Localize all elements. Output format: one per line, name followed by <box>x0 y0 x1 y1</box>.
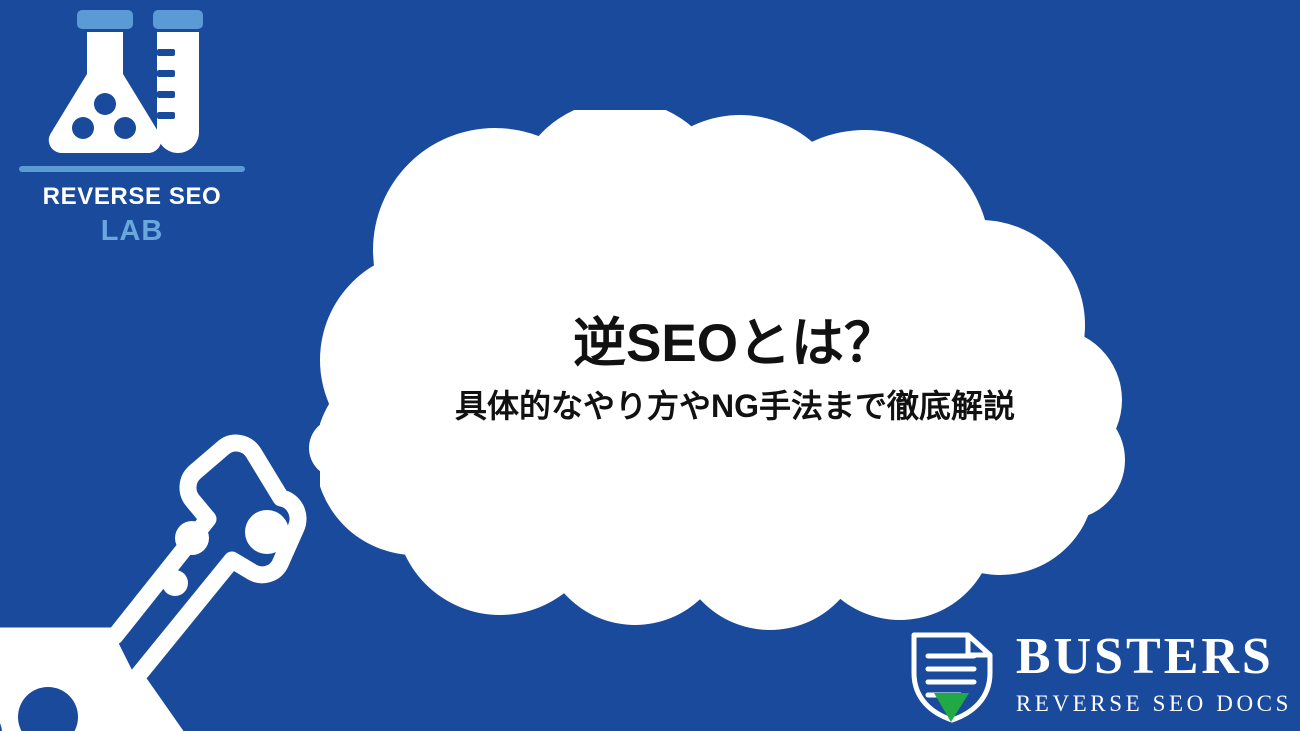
busters-name: BUSTERS <box>1016 631 1292 683</box>
thought-bubble-shape <box>320 110 1150 630</box>
brand-divider <box>19 166 245 172</box>
thumbnail-canvas: 逆SEOとは？ 具体的なやり方やNG手法まで徹底解説 <box>0 0 1300 731</box>
brand-name-reverse-seo: REVERSE SEO <box>43 183 222 211</box>
busters-logo: BUSTERS REVERSE SEO DOCS <box>906 623 1292 723</box>
busters-wordmark: BUSTERS REVERSE SEO DOCS <box>1016 631 1292 715</box>
reverse-seo-lab-logo: REVERSE SEO LAB <box>18 8 246 248</box>
shield-document-down-arrow-icon <box>906 623 1002 723</box>
busters-tagline: REVERSE SEO DOCS <box>1016 692 1292 715</box>
brand-name-lab: LAB <box>101 215 164 248</box>
flask-and-test-tube-icon <box>47 8 217 160</box>
